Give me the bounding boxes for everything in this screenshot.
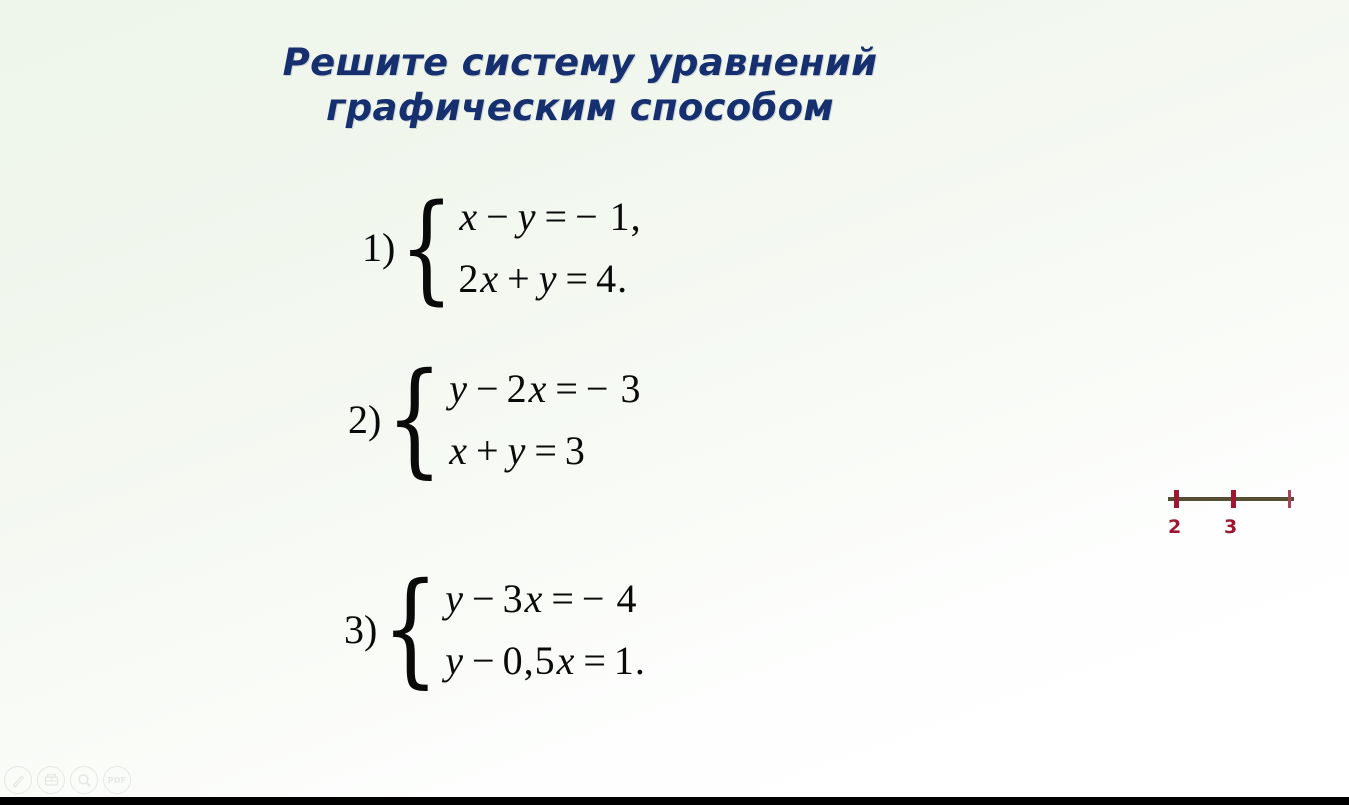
slide-canvas: Решите систему уравнений графическим спо…	[0, 0, 1349, 805]
eq-part: 4.	[596, 256, 628, 301]
title-line-2: графическим способом	[0, 85, 1160, 130]
eq-part: 3	[565, 428, 586, 473]
eq-part: x	[524, 576, 545, 621]
title-line-1: Решите систему уравнений	[0, 40, 1160, 85]
equation-system-1: 1) { x−y=− 1, 2x+y=4.	[362, 186, 642, 310]
projector-tool-button[interactable]	[37, 766, 65, 794]
bottom-toolbar: PDF	[4, 766, 131, 794]
equation: y−2x=− 3	[448, 358, 641, 420]
pen-icon	[10, 772, 27, 789]
eq-part: 0,5	[503, 638, 556, 683]
eq-part: x	[448, 428, 469, 473]
eq-part: 2	[507, 366, 528, 411]
eq-part: 1.	[614, 638, 646, 683]
pdf-icon: PDF	[108, 776, 127, 785]
eq-part: x	[556, 638, 577, 683]
system-1-equations: x−y=− 1, 2x+y=4.	[458, 186, 641, 310]
projector-icon	[43, 772, 60, 789]
equation: 2x+y=4.	[458, 248, 641, 310]
curly-brace-icon: {	[400, 196, 454, 300]
eq-part: =	[538, 194, 576, 239]
eq-part: +	[469, 428, 507, 473]
equation: y−0,5x=1.	[444, 630, 646, 692]
eq-part: 3	[503, 576, 524, 621]
system-2-equations: y−2x=− 3 x+y=3	[448, 358, 641, 482]
equation: x−y=− 1,	[458, 186, 641, 248]
eq-part: x	[458, 194, 479, 239]
number-line-label-2: 2	[1168, 516, 1181, 538]
eq-part: −	[465, 638, 503, 683]
eq-part: =	[559, 256, 597, 301]
eq-part: =	[544, 576, 582, 621]
eq-part: y	[538, 256, 559, 301]
page-title: Решите систему уравнений графическим спо…	[0, 40, 1160, 130]
eq-part: +	[500, 256, 538, 301]
eq-part: − 3	[586, 366, 642, 411]
eq-part: y	[507, 428, 528, 473]
zoom-tool-button[interactable]	[70, 766, 98, 794]
eq-part: − 1,	[575, 194, 642, 239]
eq-part: −	[469, 366, 507, 411]
eq-part: y	[444, 576, 465, 621]
eq-part: y	[444, 638, 465, 683]
eq-part: y	[517, 194, 538, 239]
eq-part: − 4	[582, 576, 638, 621]
eq-part: −	[479, 194, 517, 239]
number-line: 2 3	[1168, 490, 1294, 540]
eq-part: =	[548, 366, 586, 411]
number-line-tick-end	[1288, 490, 1291, 508]
pen-tool-button[interactable]	[4, 766, 32, 794]
number-line-tick-2	[1174, 490, 1179, 508]
curly-brace-icon: {	[386, 365, 443, 474]
number-line-tick-3	[1231, 490, 1236, 508]
pdf-tool-button[interactable]: PDF	[103, 766, 131, 794]
eq-part: x	[479, 256, 500, 301]
curly-brace-icon: {	[382, 575, 439, 684]
system-3-index: 3)	[344, 610, 379, 650]
equation-system-2: 2) { y−2x=− 3 x+y=3	[348, 358, 641, 482]
number-line-label-3: 3	[1224, 516, 1237, 538]
system-2-index: 2)	[348, 400, 383, 440]
equation-system-3: 3) { y−3x=− 4 y−0,5x=1.	[344, 568, 646, 692]
eq-part: 2	[458, 256, 479, 301]
bottom-black-bar	[0, 797, 1349, 805]
magnifier-icon	[76, 772, 93, 789]
system-1-index: 1)	[362, 228, 397, 268]
eq-part: =	[576, 638, 614, 683]
eq-part: −	[465, 576, 503, 621]
system-3-equations: y−3x=− 4 y−0,5x=1.	[444, 568, 646, 692]
eq-part: x	[528, 366, 549, 411]
eq-part: y	[448, 366, 469, 411]
eq-part: =	[527, 428, 565, 473]
equation: x+y=3	[448, 420, 641, 482]
equation: y−3x=− 4	[444, 568, 646, 630]
